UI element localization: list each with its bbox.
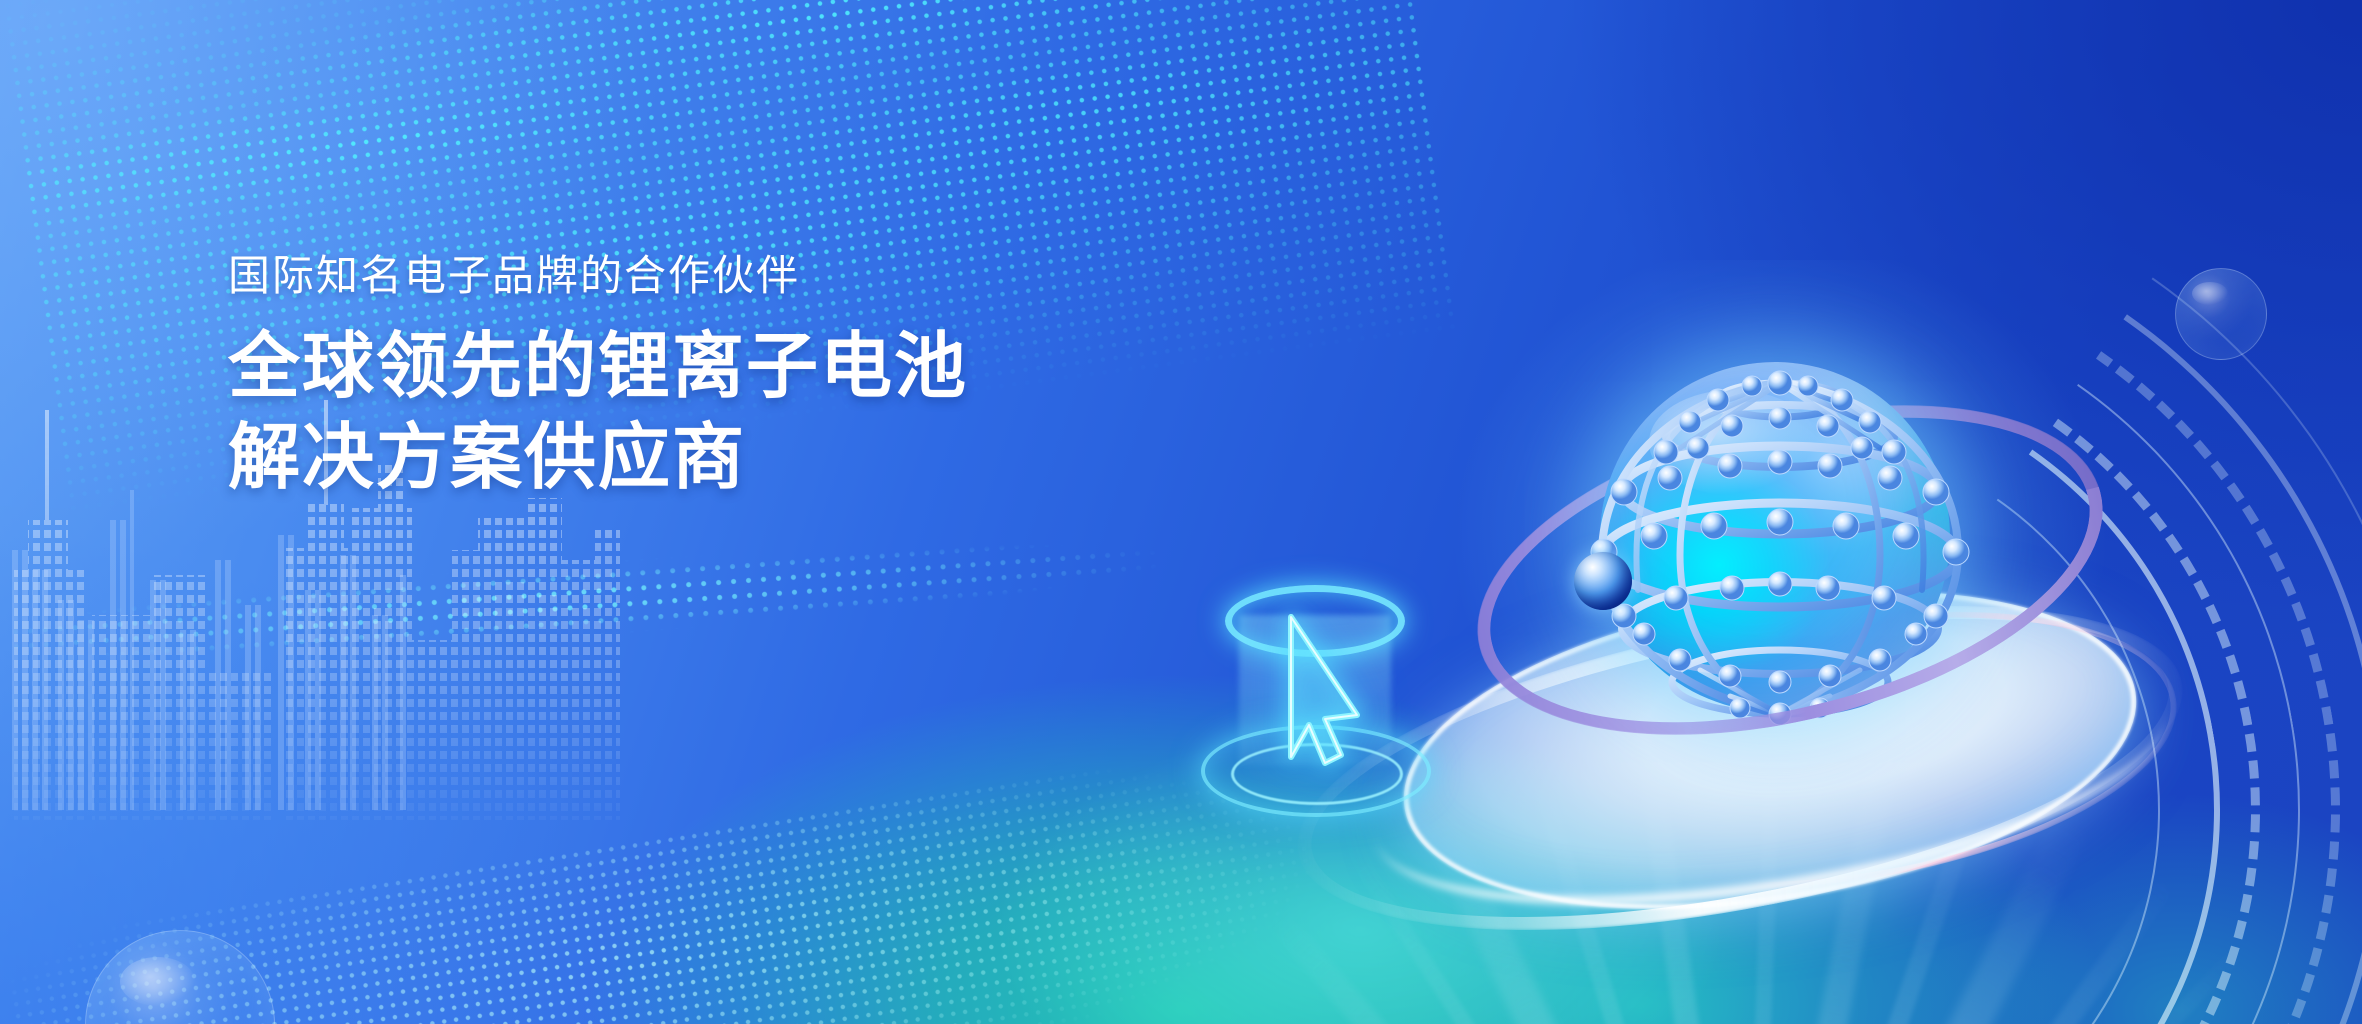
banner-copy: 国际知名电子品牌的合作伙伴 全球领先的锂离子电池 解决方案供应商 <box>228 252 968 504</box>
orbit-ring-back <box>1443 347 2137 793</box>
wireframe-globe <box>1540 340 2020 740</box>
headline-line-2: 解决方案供应商 <box>228 413 968 504</box>
hero-banner: 国际知名电子品牌的合作伙伴 全球领先的锂离子电池 解决方案供应商 <box>0 0 2362 1024</box>
globe-glow <box>1450 260 2110 840</box>
globe-core-sphere <box>1600 362 1950 712</box>
headline-line-1: 全球领先的锂离子电池 <box>228 322 968 413</box>
banner-headline: 全球领先的锂离子电池 解决方案供应商 <box>228 322 968 503</box>
bubble-top-right <box>2175 268 2267 360</box>
platform-pink-edge <box>1504 570 2197 930</box>
orbit-ring-front <box>1443 347 2137 793</box>
banner-subtitle: 国际知名电子品牌的合作伙伴 <box>228 252 968 300</box>
platform-disc <box>1400 600 2140 900</box>
globe-wireframe-svg <box>1580 340 1980 740</box>
orbit-node-sphere <box>1574 552 1632 610</box>
